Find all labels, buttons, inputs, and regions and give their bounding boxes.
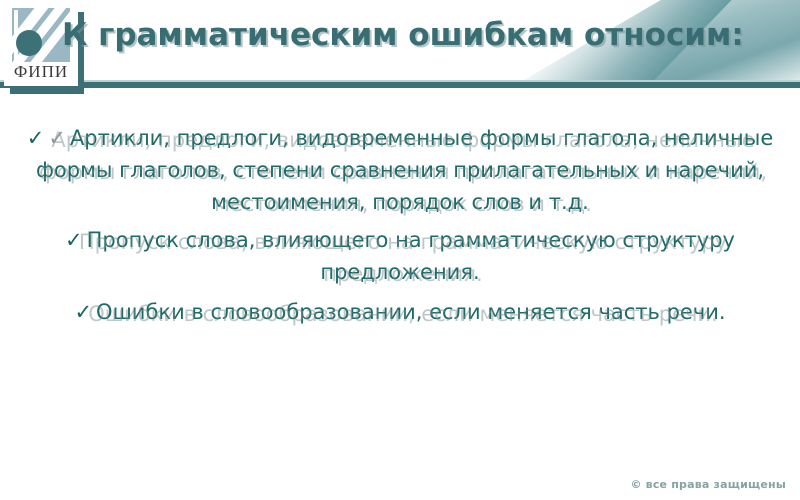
copyright-notice: © все права защищены xyxy=(630,478,786,491)
logo-caption: ФИПИ xyxy=(4,62,78,82)
list-item: Пропуск слова, влияющего на грамматическ… xyxy=(16,224,784,288)
check-icon: ✓ xyxy=(65,228,87,252)
list-item-text: Артикли, предлоги, видовременные формы г… xyxy=(36,126,773,214)
header-rule xyxy=(0,82,800,88)
slide-canvas: ФИПИ К грамматическим ошибкам относим: А… xyxy=(0,0,800,500)
list-item: Артикли, предлоги, видовременные формы г… xyxy=(16,122,784,218)
check-ghost-icon: ✓ xyxy=(48,126,70,150)
list-item: Ошибки в словообразовании, если меняется… xyxy=(16,296,784,328)
list-item-text: Пропуск слова, влияющего на грамматическ… xyxy=(87,228,735,284)
page-title: К грамматическим ошибкам относим: xyxy=(62,17,762,53)
check-icon: ✓ xyxy=(27,126,49,150)
list-item-text: Ошибки в словообразовании, если меняется… xyxy=(96,300,726,324)
bullet-list: Артикли, предлоги, видовременные формы г… xyxy=(16,120,784,440)
check-icon: ✓ xyxy=(74,300,96,324)
logo-circle-icon xyxy=(16,30,42,56)
